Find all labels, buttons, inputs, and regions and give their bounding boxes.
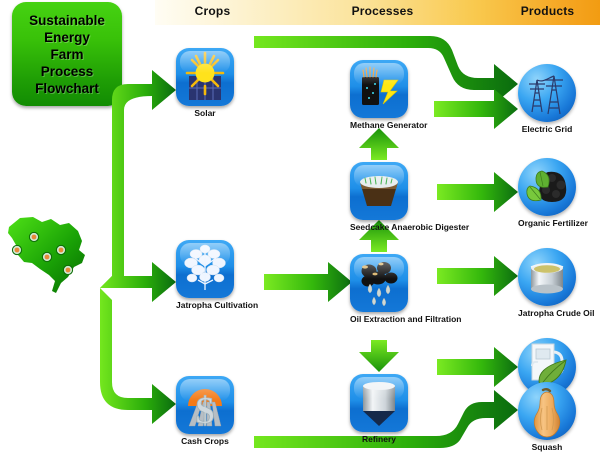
- node-methane-generator[interactable]: Methane Generator: [350, 60, 408, 130]
- node-label: Seedcake Anaerobic Digester: [350, 222, 408, 232]
- arrow-oilextraction-to-crudeoil: [437, 256, 518, 296]
- node-label: Refinery: [350, 434, 408, 444]
- arrow-methane-to-electric-grid: [434, 89, 518, 129]
- arrow-layer: [0, 0, 600, 450]
- arrow-jatropha-to-oilextraction: [264, 262, 352, 302]
- node-oil-extraction[interactable]: Oil Extraction and Filtration: [350, 254, 408, 324]
- node-label: Solar: [176, 108, 234, 118]
- node-label: Electric Grid: [518, 124, 576, 134]
- node-jatropha-cultivation[interactable]: Jatropha Cultivation: [176, 240, 234, 310]
- leaves-compost-icon: [518, 158, 576, 216]
- arrow-digester-to-methane: [359, 128, 399, 160]
- node-organic-fertilizer[interactable]: Organic Fertilizer: [518, 158, 576, 228]
- arrow-map-to-crops: [100, 70, 176, 424]
- squash-icon: [518, 382, 576, 440]
- node-jatropha-crude-oil[interactable]: Jatropha Crude Oil: [518, 248, 576, 318]
- flowchart-canvas: Crops Processes Products Sustainable Ene…: [0, 0, 600, 450]
- node-electric-grid[interactable]: Electric Grid: [518, 64, 576, 134]
- arrow-oilextraction-to-refinery: [359, 340, 399, 372]
- jatropha-plant-icon: [176, 240, 234, 298]
- node-label: Cash Crops: [176, 436, 234, 446]
- node-label: Jatropha Crude Oil: [518, 308, 576, 318]
- node-solar[interactable]: Solar: [176, 48, 234, 118]
- arrow-refinery-to-biofuel: [437, 347, 518, 387]
- node-squash[interactable]: Squash: [518, 382, 576, 452]
- node-refinery[interactable]: Refinery: [350, 374, 408, 444]
- dollar-sign-icon: $: [176, 376, 234, 434]
- node-label: Oil Extraction and Filtration: [350, 314, 408, 324]
- node-label: Jatropha Cultivation: [176, 300, 234, 310]
- refinery-tank-icon: [350, 374, 408, 432]
- node-seedcake-digester[interactable]: Seedcake Anaerobic Digester: [350, 162, 408, 232]
- sun-solar-panel-icon: [176, 48, 234, 106]
- oil-can-icon: [518, 248, 576, 306]
- svg-text:$: $: [196, 390, 215, 432]
- node-label: Squash: [518, 442, 576, 452]
- node-cash-crops[interactable]: $ Cash Crops: [176, 376, 234, 446]
- oil-seeds-droplets-icon: [350, 254, 408, 312]
- node-label: Methane Generator: [350, 120, 408, 130]
- node-label: Organic Fertilizer: [518, 218, 576, 228]
- methane-generator-icon: [350, 60, 408, 118]
- arrow-digester-to-fertilizer: [437, 172, 518, 212]
- digester-icon: [350, 162, 408, 220]
- power-pylon-icon: [518, 64, 576, 122]
